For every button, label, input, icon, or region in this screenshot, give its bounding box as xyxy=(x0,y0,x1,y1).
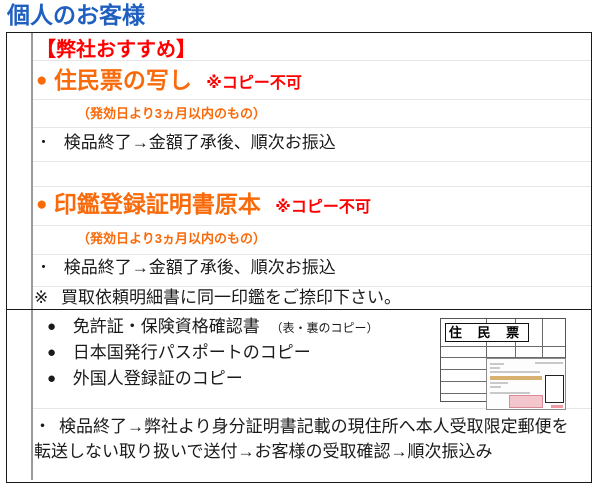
gutter-column-left xyxy=(7,33,33,309)
inset-line xyxy=(535,362,563,364)
other-item-2-label: 日本国発行パスポートのコピー xyxy=(73,343,311,362)
section-other-documents-content: 住 民 票 ● 免許証・保 xyxy=(33,310,591,480)
item-1-subnote: （発効日より3ヵ月以内のもの） xyxy=(77,107,266,120)
item-2-heading: ● 印鑑登録証明書原本 ※コピー不可 xyxy=(36,193,371,216)
row-rule xyxy=(33,254,591,255)
other-item-3-row: ● 外国人登録証のコピー xyxy=(47,370,243,387)
inset-line xyxy=(490,367,500,369)
section-recommended-content: 【弊社おすすめ】 ● 住民票の写し ※コピー不可 （発効日より3ヵ月以内のもの）… xyxy=(33,33,591,309)
item-1-heading: ● 住民票の写し ※コピー不可 xyxy=(36,69,302,92)
dot-bullet-icon: ・ xyxy=(36,259,51,276)
kome-mark-icon: ※ xyxy=(34,288,48,307)
bullet-icon: ● xyxy=(47,318,56,335)
recommended-footnote: 買取依頼明細書に同一印鑑をご捺印下さい。 xyxy=(61,288,401,307)
other-documents-detail-row: ・検品終了→弊社より身分証明書記載の現住所へ本人受取限定郵便を転送しない取り扱い… xyxy=(34,414,582,464)
item-2-detail: 検品終了→金額了承後、順次お振込 xyxy=(64,258,336,277)
inset-photo-frame xyxy=(545,375,564,403)
item-2-warning: ※コピー不可 xyxy=(275,199,371,216)
row-rule xyxy=(33,99,591,100)
item-1-detail-row: ・ 検品終了→金額了承後、順次お振込 xyxy=(36,134,336,151)
other-item-3-label: 外国人登録証のコピー xyxy=(73,369,243,388)
dot-bullet-icon: ・ xyxy=(36,134,51,151)
item-1-warning: ※コピー不可 xyxy=(206,75,302,92)
inset-highlight xyxy=(490,376,542,380)
row-rule xyxy=(33,286,591,287)
inset-stamp xyxy=(551,405,563,408)
dot-bullet-icon: ・ xyxy=(34,417,51,436)
item-2-detail-row: ・ 検品終了→金額了承後、順次お振込 xyxy=(36,259,336,276)
juuminhyou-document-image: 住 民 票 xyxy=(430,312,575,412)
inset-line xyxy=(490,363,504,365)
row-rule xyxy=(33,186,591,187)
page-title: 個人のお客様 xyxy=(7,1,145,29)
inset-line xyxy=(490,371,540,373)
recommended-footnote-row: ※ 買取依頼明細書に同一印鑑をご捺印下さい。 xyxy=(34,289,401,306)
inset-line xyxy=(490,392,530,394)
item-1-detail: 検品終了→金額了承後、順次お振込 xyxy=(64,133,336,152)
gutter-column-left xyxy=(7,310,33,480)
inset-line xyxy=(490,382,508,384)
section-recommended: 【弊社おすすめ】 ● 住民票の写し ※コピー不可 （発効日より3ヵ月以内のもの）… xyxy=(7,33,591,310)
item-2-subnote: （発効日より3ヵ月以内のもの） xyxy=(77,232,266,245)
other-item-2-row: ● 日本国発行パスポートのコピー xyxy=(47,344,311,361)
other-item-1-label: 免許証・保険資格確認書 xyxy=(73,317,260,336)
inset-table xyxy=(509,395,543,408)
row-rule xyxy=(33,127,591,128)
item-2-title: 印鑑登録証明書原本 xyxy=(54,191,261,217)
section-other-documents: 住 民 票 ● 免許証・保 xyxy=(7,310,591,480)
recommended-heading: 【弊社おすすめ】 xyxy=(36,40,196,60)
other-item-1-suffix: （表・裏のコピー） xyxy=(271,321,379,335)
item-1-title: 住民票の写し xyxy=(54,67,192,93)
row-rule xyxy=(33,225,591,226)
document-title-box: 住 民 票 xyxy=(445,323,529,342)
bullet-icon: ● xyxy=(36,70,47,91)
bullet-icon: ● xyxy=(36,194,47,215)
sheet-gridline xyxy=(441,346,565,347)
document-inset-image xyxy=(486,358,566,410)
bullet-icon: ● xyxy=(47,344,56,361)
inset-line xyxy=(490,386,501,388)
requirements-table: 【弊社おすすめ】 ● 住民票の写し ※コピー不可 （発効日より3ヵ月以内のもの）… xyxy=(6,32,592,483)
other-item-1-row: ● 免許証・保険資格確認書 （表・裏のコピー） xyxy=(47,318,379,335)
other-documents-detail: 検品終了→弊社より身分証明書記載の現住所へ本人受取限定郵便を転送しない取り扱いで… xyxy=(34,417,569,461)
bullet-icon: ● xyxy=(47,370,56,387)
row-rule xyxy=(33,161,591,162)
